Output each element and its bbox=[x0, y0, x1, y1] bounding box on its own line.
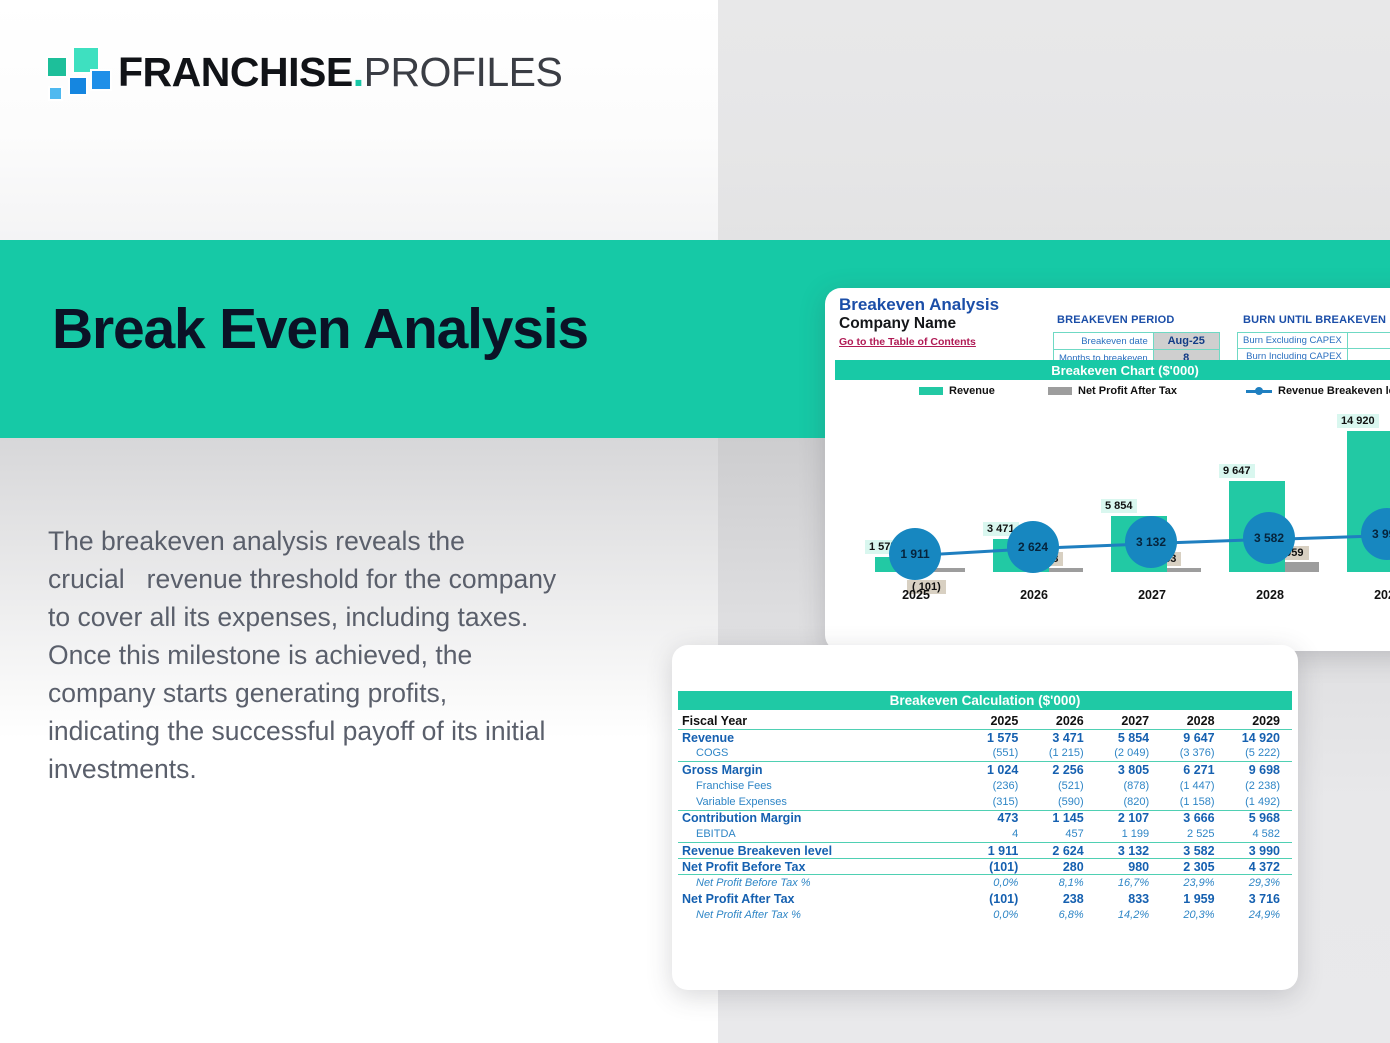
x-axis-tick-2028: 2028 bbox=[1215, 588, 1325, 602]
chart-card-company: Company Name bbox=[839, 315, 956, 333]
column-header-2027: 2027 bbox=[1096, 713, 1161, 729]
revenue-value-label: 5 854 bbox=[1101, 499, 1137, 513]
breakeven-level-bubble: 3 582 bbox=[1243, 512, 1295, 564]
table-row: Burn Excluding CAPEX bbox=[1238, 333, 1390, 349]
row-value: (1 447) bbox=[1161, 778, 1226, 794]
row-value: 6 271 bbox=[1161, 762, 1226, 778]
row-value: 3 132 bbox=[1096, 843, 1161, 859]
row-label: Contribution Margin bbox=[678, 810, 965, 826]
legend-label-npat: Net Profit After Tax bbox=[1078, 385, 1177, 397]
row-value: (236) bbox=[965, 778, 1030, 794]
row-value: 9 647 bbox=[1161, 729, 1226, 745]
background-panel-top-right bbox=[718, 0, 1390, 240]
burn-excluding-capex-value bbox=[1347, 333, 1390, 349]
brand-logo[interactable]: FRANCHISE.PROFILES bbox=[46, 46, 546, 102]
table-of-contents-link[interactable]: Go to the Table of Contents bbox=[839, 336, 976, 348]
legend-item-revenue: Revenue bbox=[919, 385, 995, 397]
row-value: (820) bbox=[1096, 794, 1161, 810]
row-value: (590) bbox=[1030, 794, 1095, 810]
breakeven-calculation-card: Breakeven Calculation ($'000) Fiscal Yea… bbox=[672, 645, 1298, 990]
row-value: 6,8% bbox=[1030, 907, 1095, 923]
row-value: 4 bbox=[965, 826, 1030, 842]
legend-swatch-breakeven-line-icon bbox=[1246, 386, 1272, 396]
row-value: 0,0% bbox=[965, 907, 1030, 923]
row-value: 1 145 bbox=[1030, 810, 1095, 826]
row-value: (1 492) bbox=[1227, 794, 1292, 810]
row-label: Net Profit After Tax % bbox=[678, 907, 965, 923]
slide-page: FRANCHISE.PROFILES Break Even Analysis T… bbox=[0, 0, 1390, 1043]
row-value: 4 582 bbox=[1227, 826, 1292, 842]
logo-word-franchise: FRANCHISE bbox=[118, 49, 353, 95]
row-value: 1 911 bbox=[965, 843, 1030, 859]
table-row: COGS(551)(1 215)(2 049)(3 376)(5 222) bbox=[678, 745, 1292, 761]
table-row: Net Profit After Tax %0,0%6,8%14,2%20,3%… bbox=[678, 907, 1292, 923]
table-row: Breakeven date Aug-25 bbox=[1054, 333, 1220, 350]
breakeven-level-bubble: 3 132 bbox=[1125, 516, 1177, 568]
row-value: 9 698 bbox=[1227, 762, 1292, 778]
logo-dot: . bbox=[353, 49, 364, 95]
row-value: 24,9% bbox=[1227, 907, 1292, 923]
background-panel-top-left bbox=[0, 0, 718, 240]
row-value: 3 471 bbox=[1030, 729, 1095, 745]
row-value: 2 256 bbox=[1030, 762, 1095, 778]
burn-excluding-capex-label: Burn Excluding CAPEX bbox=[1238, 333, 1348, 349]
logo-square-blue-left-icon bbox=[68, 76, 88, 96]
table-row: Variable Expenses(315)(590)(820)(1 158)(… bbox=[678, 794, 1292, 810]
x-axis-tick-2027: 2027 bbox=[1097, 588, 1207, 602]
row-value: (3 376) bbox=[1161, 745, 1226, 761]
row-value: 16,7% bbox=[1096, 875, 1161, 891]
row-value: 2 525 bbox=[1161, 826, 1226, 842]
row-value: (1 215) bbox=[1030, 745, 1095, 761]
revenue-value-label: 14 920 bbox=[1337, 414, 1379, 428]
row-label: Net Profit Before Tax bbox=[678, 859, 965, 875]
row-value: (878) bbox=[1096, 778, 1161, 794]
row-value: 3 990 bbox=[1227, 843, 1292, 859]
row-label: EBITDA bbox=[678, 826, 965, 842]
row-label: Net Profit Before Tax % bbox=[678, 875, 965, 891]
row-value: (101) bbox=[965, 891, 1030, 907]
logo-wordmark: FRANCHISE.PROFILES bbox=[118, 44, 562, 100]
table-row: EBITDA44571 1992 5254 582 bbox=[678, 826, 1292, 842]
row-value: 3 716 bbox=[1227, 891, 1292, 907]
row-value: 3 582 bbox=[1161, 843, 1226, 859]
chart-banner-title: Breakeven Chart ($'000) bbox=[835, 360, 1390, 380]
row-value: 23,9% bbox=[1161, 875, 1226, 891]
breakeven-chart-plot: ( 101)20251 57523820263 47183320275 8541… bbox=[835, 408, 1390, 608]
burn-until-breakeven-heading: BURN UNTIL BREAKEVEN bbox=[1243, 314, 1386, 326]
hero-description: The breakeven analysis reveals the cruci… bbox=[48, 522, 628, 788]
row-value: 1 575 bbox=[965, 729, 1030, 745]
table-header-row: Fiscal Year 2025 2026 2027 2028 2029 bbox=[678, 713, 1292, 729]
page-title: Break Even Analysis bbox=[52, 300, 588, 360]
breakeven-date-value: Aug-25 bbox=[1153, 333, 1219, 350]
row-label: Variable Expenses bbox=[678, 794, 965, 810]
row-value: 4 372 bbox=[1227, 859, 1292, 875]
table-row: Net Profit Before Tax(101)2809802 3054 3… bbox=[678, 859, 1292, 875]
chart-card-title: Breakeven Analysis bbox=[839, 295, 999, 315]
row-value: (1 158) bbox=[1161, 794, 1226, 810]
row-value: 8,1% bbox=[1030, 875, 1095, 891]
legend-swatch-revenue-icon bbox=[919, 387, 943, 395]
logo-square-lightblue-icon bbox=[48, 86, 63, 101]
row-value: 3 666 bbox=[1161, 810, 1226, 826]
column-header-2025: 2025 bbox=[965, 713, 1030, 729]
row-value: (2 049) bbox=[1096, 745, 1161, 761]
table-row: Revenue Breakeven level1 9112 6243 1323 … bbox=[678, 843, 1292, 859]
row-value: 1 024 bbox=[965, 762, 1030, 778]
row-label: Revenue Breakeven level bbox=[678, 843, 965, 859]
logo-word-profiles: PROFILES bbox=[364, 49, 563, 95]
x-axis-tick-2029: 2029 bbox=[1333, 588, 1390, 602]
column-header-fiscal-year: Fiscal Year bbox=[678, 713, 965, 729]
legend-label-revenue: Revenue bbox=[949, 385, 995, 397]
table-row: Contribution Margin4731 1452 1073 6665 9… bbox=[678, 810, 1292, 826]
calculation-banner-title: Breakeven Calculation ($'000) bbox=[678, 691, 1292, 710]
row-label: Gross Margin bbox=[678, 762, 965, 778]
row-value: (315) bbox=[965, 794, 1030, 810]
table-row: Net Profit After Tax(101)2388331 9593 71… bbox=[678, 891, 1292, 907]
row-value: 14 920 bbox=[1227, 729, 1292, 745]
row-value: 5 854 bbox=[1096, 729, 1161, 745]
breakeven-date-label: Breakeven date bbox=[1054, 333, 1154, 350]
row-value: 473 bbox=[965, 810, 1030, 826]
row-value: 2 107 bbox=[1096, 810, 1161, 826]
row-value: 2 305 bbox=[1161, 859, 1226, 875]
row-value: 280 bbox=[1030, 859, 1095, 875]
breakeven-period-heading: BREAKEVEN PERIOD bbox=[1057, 314, 1175, 326]
row-value: 457 bbox=[1030, 826, 1095, 842]
row-value: (2 238) bbox=[1227, 778, 1292, 794]
table-row: Net Profit Before Tax %0,0%8,1%16,7%23,9… bbox=[678, 875, 1292, 891]
legend-label-breakeven-level: Revenue Breakeven level bbox=[1278, 385, 1390, 397]
logo-square-teal-dark-icon bbox=[46, 56, 68, 78]
breakeven-level-bubble: 1 911 bbox=[889, 528, 941, 580]
row-value: 3 805 bbox=[1096, 762, 1161, 778]
x-axis-tick-2026: 2026 bbox=[979, 588, 1089, 602]
row-value: 2 624 bbox=[1030, 843, 1095, 859]
table-row: Gross Margin1 0242 2563 8056 2719 698 bbox=[678, 762, 1292, 778]
x-axis-tick-2025: 2025 bbox=[861, 588, 971, 602]
column-header-2028: 2028 bbox=[1161, 713, 1226, 729]
breakeven-chart-card: Breakeven Analysis Company Name Go to th… bbox=[825, 288, 1390, 651]
column-header-2029: 2029 bbox=[1227, 713, 1292, 729]
row-value: 29,3% bbox=[1227, 875, 1292, 891]
table-row: Revenue1 5753 4715 8549 64714 920 bbox=[678, 729, 1292, 745]
chart-legend: Revenue Net Profit After Tax Revenue Bre… bbox=[835, 385, 1390, 401]
legend-item-net-profit-after-tax: Net Profit After Tax bbox=[1048, 385, 1177, 397]
legend-item-revenue-breakeven-level: Revenue Breakeven level bbox=[1246, 385, 1390, 397]
row-value: 14,2% bbox=[1096, 907, 1161, 923]
row-value: (101) bbox=[965, 859, 1030, 875]
row-value: 1 199 bbox=[1096, 826, 1161, 842]
row-label: Net Profit After Tax bbox=[678, 891, 965, 907]
row-value: 238 bbox=[1030, 891, 1095, 907]
row-value: 833 bbox=[1096, 891, 1161, 907]
logo-squares-icon bbox=[46, 46, 108, 98]
logo-square-blue-right-icon bbox=[90, 69, 112, 91]
breakeven-level-bubble: 2 624 bbox=[1007, 521, 1059, 573]
table-body: Revenue1 5753 4715 8549 64714 920COGS(55… bbox=[678, 729, 1292, 923]
breakeven-calculation-table: Fiscal Year 2025 2026 2027 2028 2029 Rev… bbox=[678, 713, 1292, 923]
row-value: 1 959 bbox=[1161, 891, 1226, 907]
row-label: Franchise Fees bbox=[678, 778, 965, 794]
row-value: 980 bbox=[1096, 859, 1161, 875]
row-value: (5 222) bbox=[1227, 745, 1292, 761]
row-label: Revenue bbox=[678, 729, 965, 745]
column-header-2026: 2026 bbox=[1030, 713, 1095, 729]
table-row: Franchise Fees(236)(521)(878)(1 447)(2 2… bbox=[678, 778, 1292, 794]
row-value: 20,3% bbox=[1161, 907, 1226, 923]
row-value: 5 968 bbox=[1227, 810, 1292, 826]
revenue-value-label: 9 647 bbox=[1219, 464, 1255, 478]
row-value: (551) bbox=[965, 745, 1030, 761]
row-value: (521) bbox=[1030, 778, 1095, 794]
row-value: 0,0% bbox=[965, 875, 1030, 891]
row-label: COGS bbox=[678, 745, 965, 761]
legend-swatch-npat-icon bbox=[1048, 387, 1072, 395]
